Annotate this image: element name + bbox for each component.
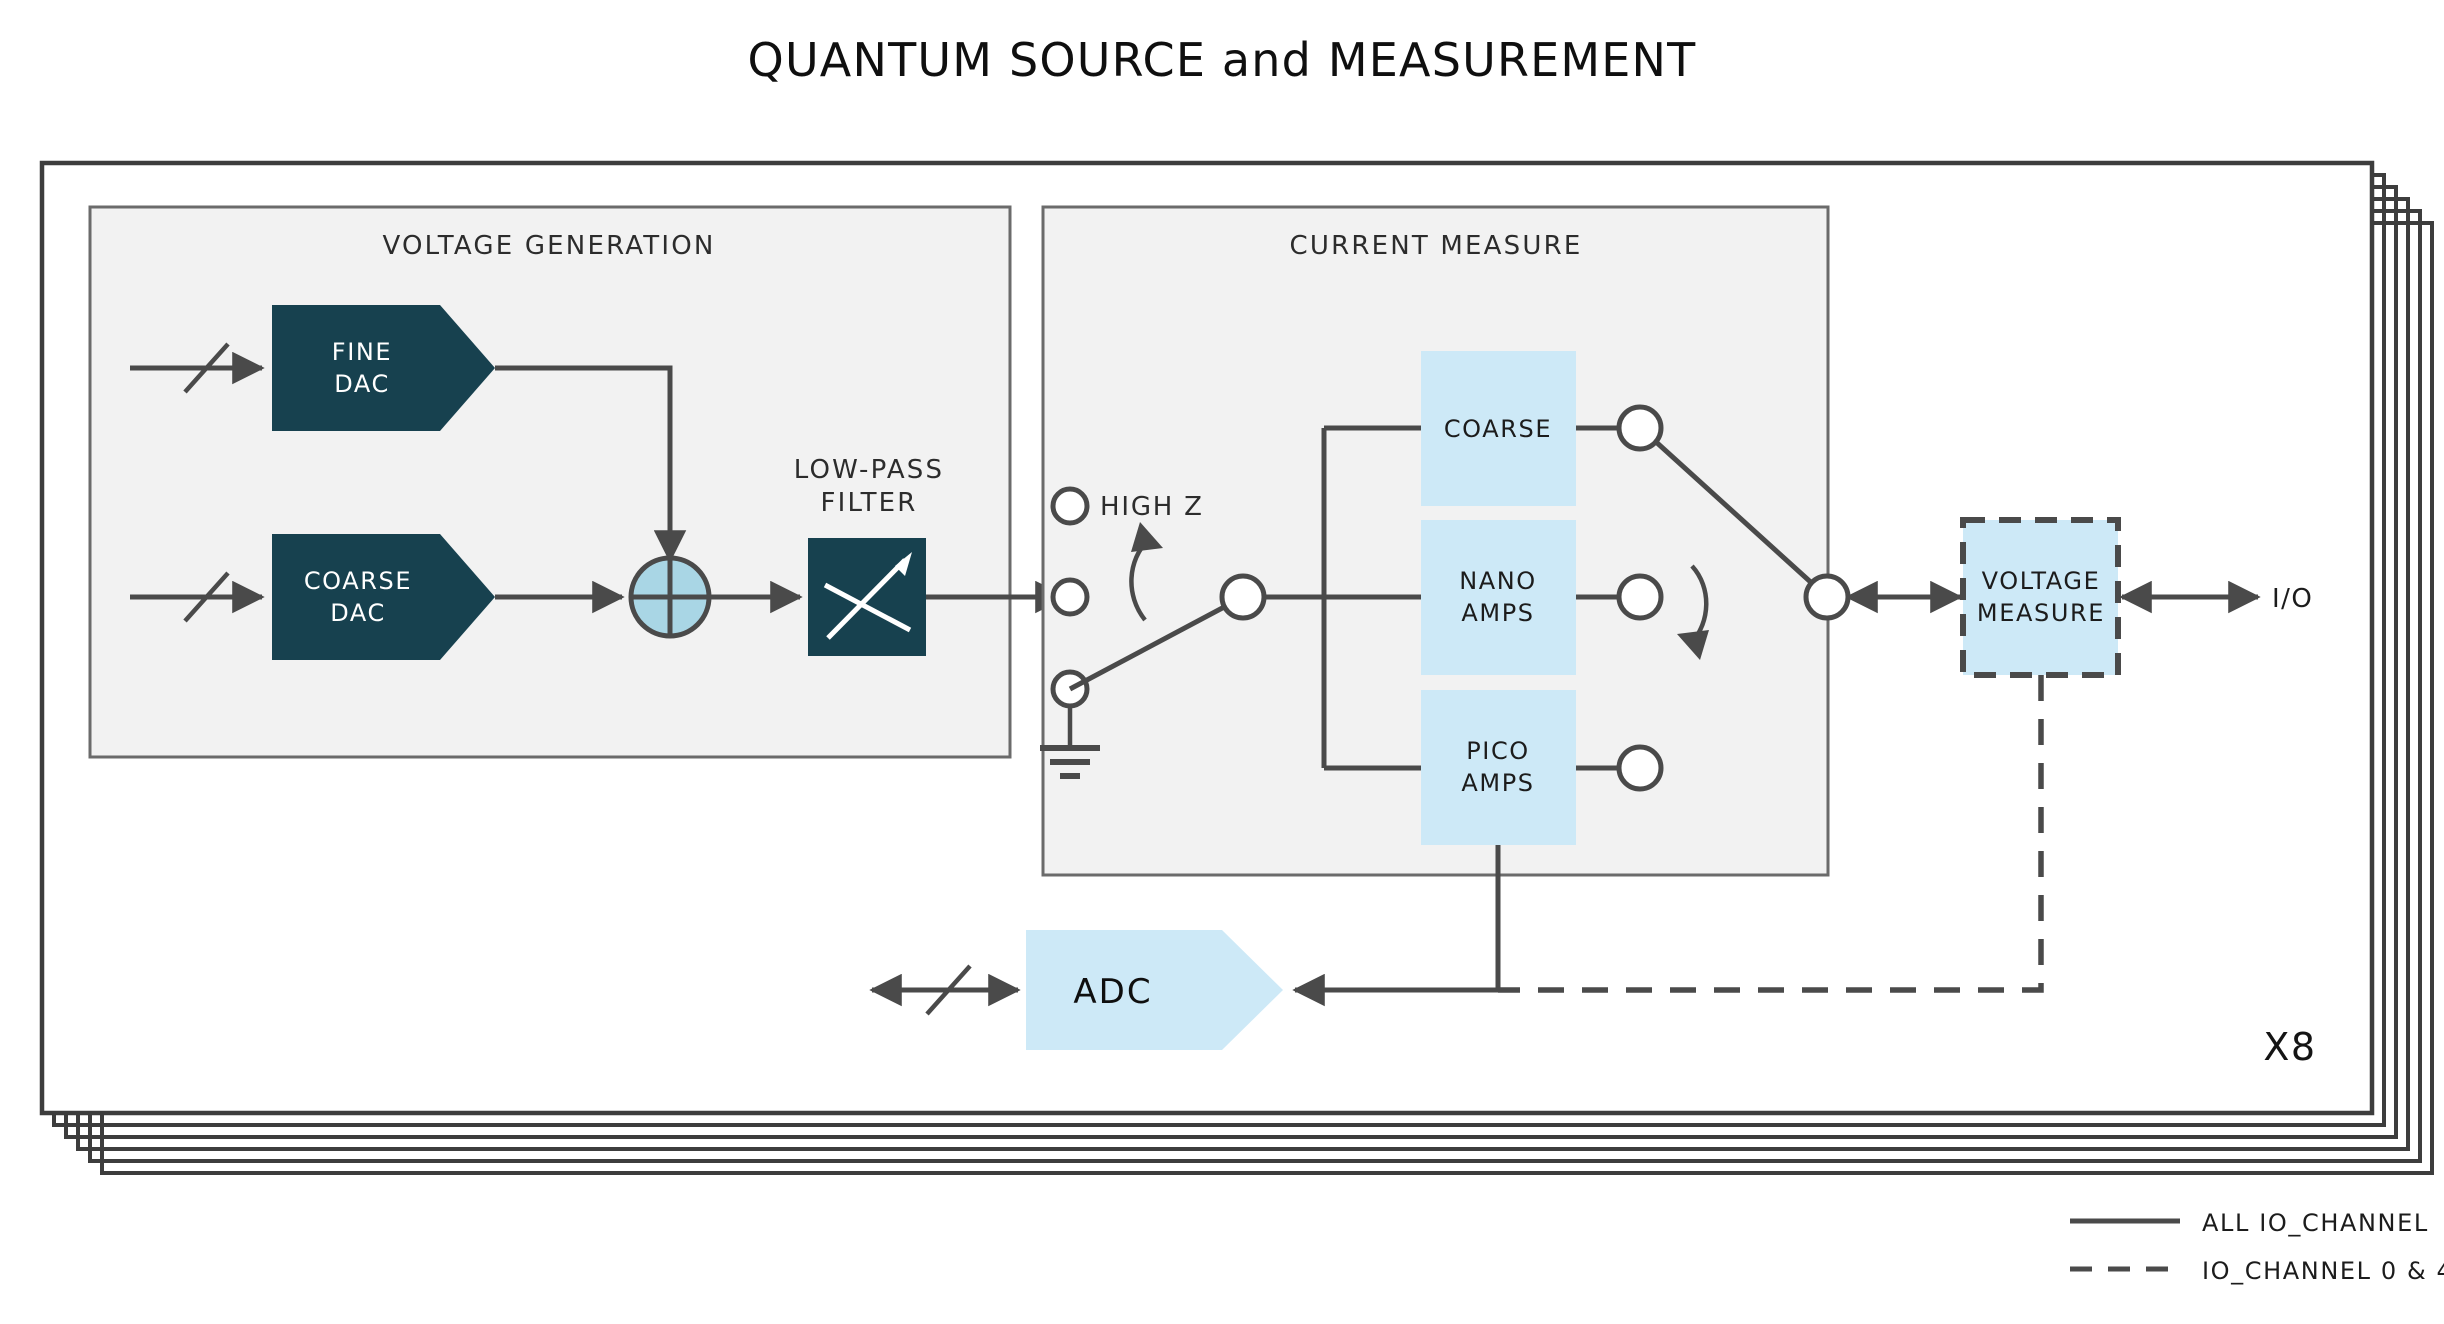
amp-pico-label-line1: PICO bbox=[1466, 737, 1530, 765]
high-z-terminal[interactable]: HIGH Z bbox=[1053, 489, 1204, 523]
fine-dac-label-line2: DAC bbox=[334, 370, 390, 398]
legend-item-solid: ALL IO_CHANNEL bbox=[2070, 1209, 2429, 1237]
amp-block-coarse[interactable]: COARSE bbox=[1421, 351, 1576, 506]
amp-pico-label-line2: AMPS bbox=[1461, 769, 1534, 797]
voltage-generation-title: VOLTAGE GENERATION bbox=[382, 231, 715, 261]
amp-nano-label-line1: NANO bbox=[1459, 567, 1537, 595]
coarse-dac-label-line1: COARSE bbox=[304, 567, 412, 595]
multiplier-label: X8 bbox=[2263, 1025, 2316, 1069]
current-measure-group: CURRENT MEASURE HIGH Z bbox=[1040, 207, 1848, 875]
legend-solid-label: ALL IO_CHANNEL bbox=[2202, 1209, 2429, 1237]
summing-junction-node[interactable] bbox=[631, 558, 709, 636]
amp-nano-output-node[interactable] bbox=[1619, 576, 1661, 618]
legend-dashed-label: IO_CHANNEL 0 & 4 bbox=[2202, 1257, 2444, 1285]
high-z-node bbox=[1053, 489, 1087, 523]
page-title: QUANTUM SOURCE and MEASUREMENT bbox=[748, 33, 1697, 87]
amp-coarse-label-line1: COARSE bbox=[1444, 415, 1552, 443]
amp-block-nano[interactable]: NANO AMPS bbox=[1421, 520, 1576, 675]
voltage-measure-label-line2: MEASURE bbox=[1977, 599, 2105, 627]
amp-block-pico[interactable]: PICO AMPS bbox=[1421, 690, 1576, 845]
coarse-dac-label-line2: DAC bbox=[330, 599, 386, 627]
fine-dac-label-line1: FINE bbox=[332, 338, 392, 366]
amp-nano-label-line2: AMPS bbox=[1461, 599, 1534, 627]
legend-item-dashed: IO_CHANNEL 0 & 4 bbox=[2070, 1257, 2444, 1285]
amp-pico-shape bbox=[1421, 690, 1576, 845]
amp-nano-shape bbox=[1421, 520, 1576, 675]
output-switch-pivot-node[interactable] bbox=[1806, 576, 1848, 618]
low-pass-filter-label-line2: FILTER bbox=[820, 488, 917, 518]
voltage-measure-block[interactable]: VOLTAGE MEASURE bbox=[1963, 520, 2118, 675]
quantum-source-measurement-diagram: QUANTUM SOURCE and MEASUREMENT X8 VOLTAG… bbox=[0, 0, 2444, 1324]
diagram-root: QUANTUM SOURCE and MEASUREMENT X8 VOLTAG… bbox=[0, 0, 2444, 1324]
legend: ALL IO_CHANNEL IO_CHANNEL 0 & 4 bbox=[2070, 1209, 2444, 1285]
voltage-generation-group: VOLTAGE GENERATION FINE DAC COARSE DAC bbox=[90, 207, 1065, 757]
voltage-measure-shape bbox=[1963, 520, 2118, 675]
current-measure-title: CURRENT MEASURE bbox=[1289, 231, 1582, 261]
high-z-label: HIGH Z bbox=[1100, 492, 1204, 522]
amp-pico-output-node[interactable] bbox=[1619, 747, 1661, 789]
source-input-node[interactable] bbox=[1053, 580, 1087, 614]
voltage-measure-label-line1: VOLTAGE bbox=[1982, 567, 2101, 595]
low-pass-filter-label-line1: LOW-PASS bbox=[794, 455, 944, 485]
adc-label: ADC bbox=[1073, 972, 1152, 1012]
input-switch-pivot-node[interactable] bbox=[1222, 576, 1264, 618]
io-label: I/O bbox=[2272, 584, 2313, 614]
